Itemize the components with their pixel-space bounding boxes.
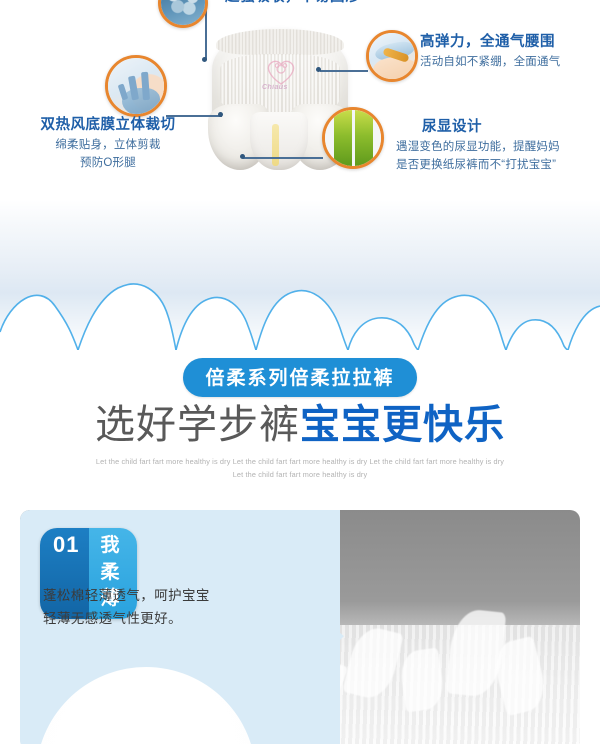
connector-line-wet [243, 157, 323, 159]
callout-top: 超强吸收，不易回渗 [225, 0, 455, 6]
scallop-divider-section [0, 200, 600, 350]
callout-wetness-sub1: 遇湿变色的尿显功能，提醒妈妈 [396, 139, 600, 157]
callout-waistband-title: 高弹力，全通气腰围 [420, 33, 598, 51]
callout-wetness-title: 尿显设计 [396, 118, 600, 136]
callout-leg-cut-sub2: 预防O形腿 [8, 155, 208, 173]
wetness-indicator-icon [322, 107, 384, 169]
product-brand-logo: Chiaus [262, 84, 288, 91]
absorbent-beads-icon [158, 0, 208, 28]
leg-cut-icon [105, 55, 167, 117]
elastic-waist-icon [366, 30, 418, 82]
series-pill-label: 倍柔系列倍柔拉拉裤 [183, 358, 416, 397]
callout-waistband-sub1: 活动自如不紧绷，全面通气 [420, 54, 598, 72]
connector-line-waist [320, 70, 368, 72]
callout-top-title: 超强吸收，不易回渗 [225, 0, 455, 6]
callout-leg-cut: 双热风底膜立体裁切 绵柔贴身，立体剪裁 预防O形腿 [8, 116, 208, 173]
headline-main-blue: 宝宝更快乐 [300, 403, 505, 447]
headline-english-line2: Let the child fart fart more healthy is … [0, 469, 600, 481]
product-detail-page: Chiaus 超强吸收，不易回渗 [0, 0, 600, 744]
headline-english-block: Let the child fart fart more healthy is … [0, 456, 600, 481]
connector-dot-waist [316, 67, 321, 72]
callout-wetness: 尿显设计 遇湿变色的尿显功能，提醒妈妈 是否更换纸尿裤而不“打扰宝宝” [396, 118, 600, 175]
headline-main: 选好学步裤宝宝更快乐 [0, 404, 600, 447]
connector-dot-cut [218, 112, 223, 117]
headline-main-grey: 选好学步裤 [95, 403, 300, 447]
feature-callout-section: Chiaus 超强吸收，不易回渗 [0, 0, 600, 200]
headline-section: 倍柔系列倍柔拉拉裤 选好学步裤宝宝更快乐 Let the child fart … [0, 350, 600, 495]
heart-bear-print [264, 56, 298, 86]
scallop-wave-graphic [0, 260, 600, 350]
feature-card-body-line2: 轻薄无感透气性更好。 [43, 608, 293, 631]
feature-card-body-line1: 蓬松棉轻薄透气，呵护宝宝 [43, 585, 293, 608]
callout-waistband: 高弹力，全通气腰围 活动自如不紧绷，全面通气 [420, 33, 598, 72]
connector-line-top-2 [205, 10, 207, 60]
callout-leg-cut-sub1: 绵柔贴身，立体剪裁 [8, 137, 208, 155]
connector-dot-wet [240, 154, 245, 159]
connector-dot-top [202, 57, 207, 62]
headline-english-line1: Let the child fart fart more healthy is … [0, 456, 600, 468]
callout-leg-cut-title: 双热风底膜立体裁切 [8, 116, 208, 134]
feature-card-body: 蓬松棉轻薄透气，呵护宝宝 轻薄无感透气性更好。 [43, 585, 293, 631]
callout-wetness-sub2: 是否更换纸尿裤而不“打扰宝宝” [396, 157, 600, 175]
